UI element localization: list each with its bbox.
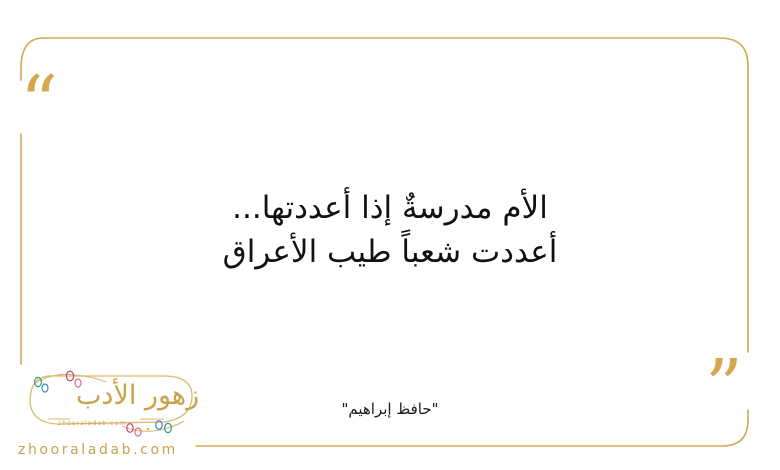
logo-url-text[interactable]: zhooraladab.com bbox=[18, 442, 178, 458]
opening-quote-icon: “ bbox=[20, 66, 58, 140]
site-logo[interactable]: زهور الأدب zhooraladab.com zhooraladab.c… bbox=[14, 366, 224, 466]
poem-line-2: أعددت شعباً طيب الأعراق bbox=[0, 230, 780, 274]
logo-wordmark: زهور الأدب bbox=[76, 380, 199, 411]
logo-inner-url: zhooraladab.com bbox=[58, 420, 126, 427]
poem-text: الأم مدرسةٌ إذا أعددتها... أعددت شعباً ط… bbox=[0, 186, 780, 274]
poem-line-1: الأم مدرسةٌ إذا أعددتها... bbox=[0, 186, 780, 230]
quote-card: “ ” الأم مدرسةٌ إذا أعددتها... أعددت شعب… bbox=[0, 0, 780, 470]
